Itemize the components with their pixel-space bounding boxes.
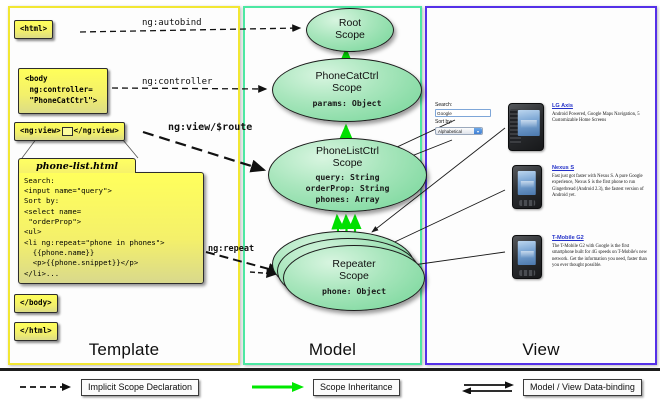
code-callout-body: Search: <input name="query"> Sort by: <s… <box>18 172 204 285</box>
phone-name-link[interactable]: LG Axis <box>552 103 648 110</box>
view-search-form: Search: Google Sort by: Alphabetical ▾ <box>435 102 491 135</box>
scope-phonecatctrl-name: PhoneCatCtrlScope <box>315 71 378 95</box>
scope-repeater-props: phone: Object <box>322 286 386 297</box>
scope-phonelistctrl: PhoneListCtrlScope query: String orderPr… <box>268 138 427 212</box>
phone-buttons-icon <box>519 200 535 206</box>
phone-thumbnail-icon <box>508 103 544 151</box>
edge-label-ngview-route: ng:view/$route <box>168 122 252 133</box>
legend-item-data-binding: Model / View Data-binding <box>460 379 642 396</box>
phone-info: Nexus S Fast just got faster with Nexus … <box>552 165 648 199</box>
angularjs-architecture-diagram: Template Model View <box>0 0 660 405</box>
sort-select-value: Alphabetical <box>438 129 462 134</box>
panel-model-label: Model <box>245 340 420 360</box>
ngview-slot-icon <box>62 127 73 136</box>
legend-label-implicit-scope: Implicit Scope Declaration <box>81 379 199 396</box>
scope-repeater: RepeaterScope phone: Object <box>283 245 425 311</box>
legend-item-scope-inheritance: Scope Inheritance <box>250 379 400 396</box>
scope-root: RootScope <box>306 8 394 52</box>
double-arrow-icon <box>460 380 516 394</box>
tag-body-open: <body ng:controller= "PhoneCatCtrl"> <box>18 68 108 114</box>
scope-phonelistctrl-name: PhoneListCtrlScope <box>316 146 379 170</box>
phone-screen-icon <box>518 171 536 195</box>
phone-screen-icon <box>518 241 536 265</box>
legend-label-data-binding: Model / View Data-binding <box>523 379 642 396</box>
edge-label-autobind: ng:autobind <box>142 18 202 28</box>
phone-name-link[interactable]: T-Mobile G2 <box>552 235 648 242</box>
tag-body-close: </body> <box>14 294 58 313</box>
legend: Implicit Scope Declaration Scope Inherit… <box>0 368 660 408</box>
solid-arrow-icon <box>250 380 306 394</box>
scope-phonelistctrl-props: query: String orderProp: String phones: … <box>306 172 390 204</box>
tag-html-close: </html> <box>14 322 58 341</box>
phone-buttons-icon <box>519 270 535 276</box>
scope-repeater-name: RepeaterScope <box>332 259 375 283</box>
phone-info: T-Mobile G2 The T-Mobile G2 with Google … <box>552 235 648 269</box>
dashed-arrow-icon <box>18 380 74 394</box>
tag-ngview-open: <ng:view> <box>20 126 61 135</box>
code-callout-title: phone-list.html <box>18 158 136 173</box>
scope-phonecatctrl: PhoneCatCtrlScope params: Object <box>272 58 422 122</box>
phone-info: LG Axis Android Powered, Google Maps Nav… <box>552 103 648 125</box>
scope-root-name: RootScope <box>335 18 365 42</box>
phone-name-link[interactable]: Nexus S <box>552 165 648 172</box>
legend-label-scope-inheritance: Scope Inheritance <box>313 379 400 396</box>
phone-thumbnail-icon <box>512 165 542 209</box>
phone-snippet: The T-Mobile G2 with Google is the first… <box>552 244 648 269</box>
panel-template-label: Template <box>10 340 238 360</box>
search-label: Search: <box>435 102 491 108</box>
phone-thumbnail-icon <box>512 235 542 279</box>
sort-label: Sort by: <box>435 119 491 125</box>
tag-ngview: <ng:view></ng:view> <box>14 122 125 141</box>
sort-select[interactable]: Alphabetical ▾ <box>435 127 483 135</box>
code-callout: phone-list.html Search: <input name="que… <box>18 158 204 284</box>
phone-screen-icon <box>518 110 540 137</box>
legend-item-implicit-scope: Implicit Scope Declaration <box>18 379 199 396</box>
edge-label-controller: ng:controller <box>142 77 212 87</box>
panel-view-label: View <box>427 340 655 360</box>
search-input[interactable]: Google <box>435 109 491 117</box>
chevron-down-icon: ▾ <box>474 128 482 134</box>
phone-snippet: Fast just got faster with Nexus S. A pur… <box>552 174 648 199</box>
scope-phonecatctrl-props: params: Object <box>312 98 381 109</box>
tag-html-open: <html> <box>14 20 53 39</box>
phone-snippet: Android Powered, Google Maps Navigation,… <box>552 112 648 124</box>
tag-ngview-close: </ng:view> <box>74 126 119 135</box>
edge-label-ngrepeat: ng:repeat <box>208 244 254 254</box>
